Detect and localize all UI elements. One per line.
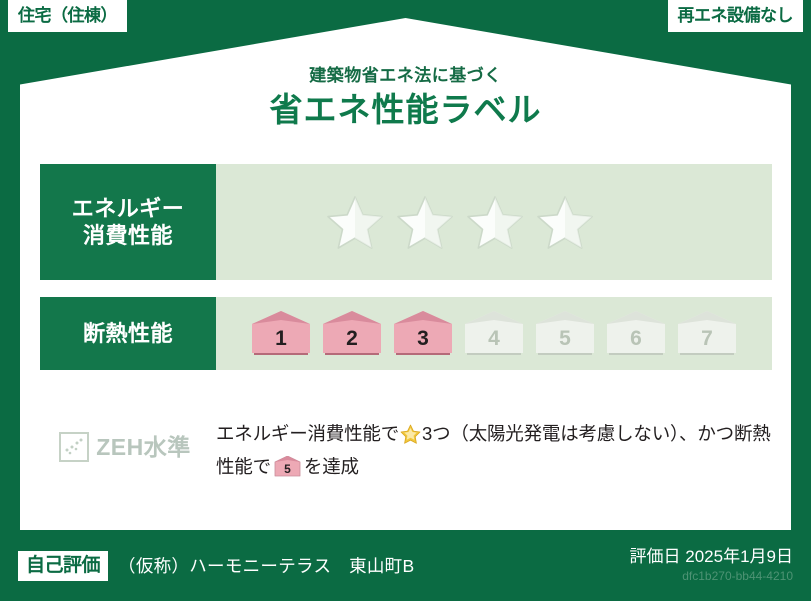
grade-house-1: 1 [250, 311, 312, 357]
zeh-label: ZEH水準 [96, 436, 191, 459]
grade-house-6-number: 6 [605, 328, 667, 349]
grade-house-7-number: 7 [676, 328, 738, 349]
gold-star-icon [400, 424, 421, 453]
page-title: 建築物省エネ法に基づく 省エネ性能ラベル [0, 66, 811, 129]
footer-bar: 自己評価 （仮称）ハーモニーテラス 東山町B 評価日 2025年1月9日 dfc… [0, 530, 811, 601]
footer-right-group: 評価日 2025年1月9日 dfc1b270-bb44-4210 [630, 547, 793, 585]
zeh-section: ZEH水準 エネルギー消費性能で3つ（太陽光発電は考慮しない）、かつ断熱性能で5… [40, 420, 772, 481]
energy-performance-label: エネルギー 消費性能 [40, 164, 216, 280]
building-name-text: （仮称）ハーモニーテラス 東山町B [118, 553, 414, 578]
evaluation-date-text: 評価日 2025年1月9日 [630, 547, 793, 567]
grade-house-4-number: 4 [463, 328, 525, 349]
building-type-chip: 住宅（住棟） [8, 0, 127, 32]
star-icon-3 [466, 194, 524, 250]
title-main: 省エネ性能ラベル [0, 91, 811, 129]
energy-label-line1: エネルギー [72, 195, 185, 223]
grade-house-4: 4 [463, 311, 525, 357]
star-rating-group [326, 194, 594, 250]
energy-rating-panel [216, 164, 772, 280]
grade-house-group: 1 2 3 [250, 311, 738, 357]
title-subtitle: 建築物省エネ法に基づく [0, 66, 811, 86]
star-icon-4 [536, 194, 594, 250]
insulation-performance-row: 断熱性能 1 2 [40, 297, 772, 370]
grade-house-2-number: 2 [321, 328, 383, 349]
insulation-rating-panel: 1 2 3 [216, 297, 772, 370]
grade-house-5-number: 5 [534, 328, 596, 349]
inline-grade-house-icon: 5 [274, 456, 301, 477]
star-icon-2 [396, 194, 454, 250]
grade-house-3: 3 [392, 311, 454, 357]
achievement-description: エネルギー消費性能で3つ（太陽光発電は考慮しない）、かつ断熱性能で5を達成 [210, 420, 772, 481]
evaluation-id-text: dfc1b270-bb44-4210 [630, 569, 793, 585]
evaluation-type-chip: 自己評価 [18, 551, 108, 581]
energy-label-line2: 消費性能 [83, 222, 173, 250]
footer-left-group: 自己評価 （仮称）ハーモニーテラス 東山町B [18, 551, 414, 581]
grade-house-1-number: 1 [250, 328, 312, 349]
description-part-3: を達成 [304, 456, 359, 477]
zeh-badge: ZEH水準 [40, 420, 210, 462]
energy-label-card: 住宅（住棟） 再エネ設備なし 建築物省エネ法に基づく 省エネ性能ラベル エネルギ… [0, 0, 811, 601]
energy-performance-row: エネルギー 消費性能 [40, 164, 772, 280]
grade-house-6: 6 [605, 311, 667, 357]
star-icon-1 [326, 194, 384, 250]
grade-house-3-number: 3 [392, 328, 454, 349]
grade-house-5: 5 [534, 311, 596, 357]
grade-house-7: 7 [676, 311, 738, 357]
insulation-label-text: 断熱性能 [83, 320, 173, 348]
insulation-performance-label: 断熱性能 [40, 297, 216, 370]
renewable-equipment-chip: 再エネ設備なし [668, 0, 804, 32]
grade-house-2: 2 [321, 311, 383, 357]
description-part-1: エネルギー消費性能で [216, 423, 399, 444]
zeh-mark-icon [59, 432, 89, 462]
inline-grade-number: 5 [274, 463, 301, 475]
